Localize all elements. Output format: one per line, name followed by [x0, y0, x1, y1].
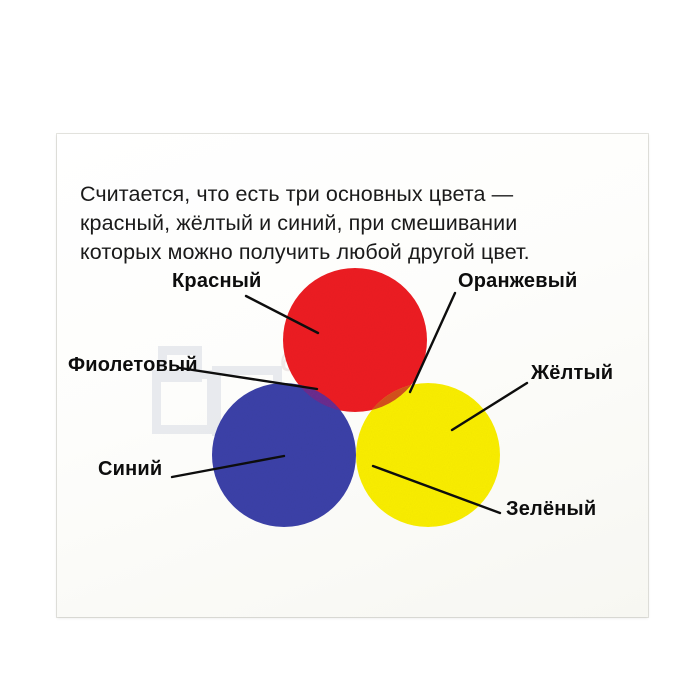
page-root: бабочкаброкупки Считается, что есть три … [0, 0, 700, 700]
label-green: Зелёный [506, 498, 596, 521]
venn-diagram [0, 0, 700, 700]
label-blue: Синий [98, 458, 162, 481]
label-orange: Оранжевый [458, 270, 578, 293]
label-red: Красный [172, 270, 262, 293]
label-violet: Фиолетовый [68, 354, 198, 377]
label-yellow: Жёлтый [531, 362, 613, 385]
